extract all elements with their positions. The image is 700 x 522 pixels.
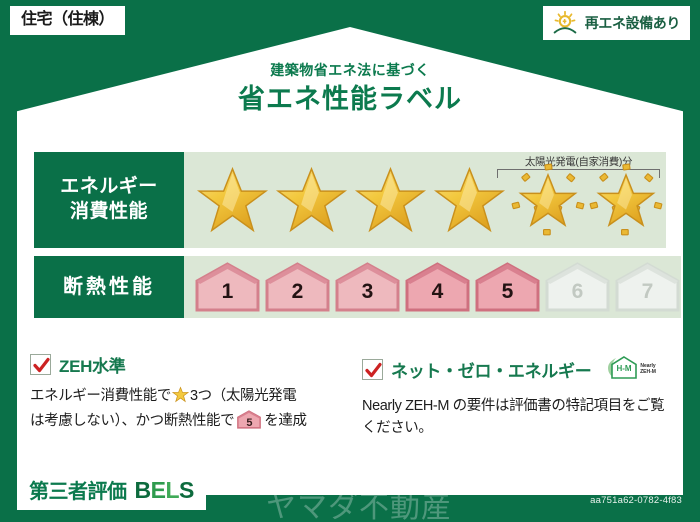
energy-label-line1: エネルギー xyxy=(60,175,158,200)
checkbox-checked-icon xyxy=(30,354,51,375)
evaluation-date-label: 評価日 xyxy=(540,475,584,492)
insulation-level-5-value: 5 xyxy=(474,280,541,304)
company-watermark: ヤマダ不動産 xyxy=(266,482,452,522)
star-rating-group xyxy=(184,163,664,237)
energy-label-line2: 消費性能 xyxy=(70,200,148,225)
bels-letter-s: S xyxy=(179,477,194,503)
insulation-level-4: 4 xyxy=(404,261,471,313)
bels-certification-box: 第三者評価 BELS xyxy=(17,470,206,510)
inline-insulation-badge: 5 xyxy=(236,410,262,429)
insulation-level-1-value: 1 xyxy=(194,280,261,304)
criterion-zeh-description: エネルギー消費性能で3つ（太陽光発電は考慮しない）、かつ断熱性能で5を達成 xyxy=(30,385,338,433)
energy-consumption-row: エネルギー 消費性能 太陽光発電(自家消費)分 xyxy=(34,152,666,248)
criterion-net-zero-energy: ネット・ゼロ・エネルギー H-M Nearly ZEH-M Nearly ZEH… xyxy=(362,352,670,440)
criterion-zeh-text-3: は考慮しない）、かつ断熱性能で xyxy=(30,413,234,429)
insulation-level-1: 1 xyxy=(194,261,261,313)
criterion-zeh-suijun: ZEH水準 エネルギー消費性能で3つ（太陽光発電は考慮しない）、かつ断熱性能で5… xyxy=(30,352,338,440)
sun-energy-icon xyxy=(551,10,579,36)
insulation-level-7-value: 7 xyxy=(614,280,681,304)
insulation-level-2: 2 xyxy=(264,261,331,313)
building-type-tag: 住宅（住棟） xyxy=(10,6,125,35)
star-filled-4 xyxy=(431,163,508,237)
renewable-equipment-badge: 再エネ設備あり xyxy=(543,6,690,40)
insulation-level-3: 3 xyxy=(334,261,401,313)
insulation-level-2-value: 2 xyxy=(264,280,331,304)
star-solar-2 xyxy=(588,163,664,237)
bels-letter-b: B xyxy=(135,477,151,503)
label-footer: 第三者評価 BELS Sunrise ヤマダ不動産 評価日 2025年4月4日 … xyxy=(0,464,700,522)
renewable-badge-label: 再エネ設備あり xyxy=(585,13,680,33)
title-main: 省エネ性能ラベル xyxy=(0,83,700,115)
star-solar-1 xyxy=(510,163,586,237)
nearly-zeh-m-logo-icon: H-M Nearly ZEH-M xyxy=(603,352,661,387)
third-party-evaluation-label: 第三者評価 xyxy=(29,475,127,504)
evaluation-date: 評価日 2025年4月4日 xyxy=(540,472,682,493)
insulation-label: 断熱性能 xyxy=(34,256,184,318)
star-filled-1 xyxy=(194,163,271,237)
criterion-zeh-text-2: 3つ（太陽光発電 xyxy=(190,388,296,404)
evaluation-id: aa751a62-0782-4f83 xyxy=(540,495,682,506)
star-filled-3 xyxy=(352,163,429,237)
svg-text:ZEH-M: ZEH-M xyxy=(640,369,656,375)
criterion-zeh-title: ZEH水準 xyxy=(59,352,126,377)
criterion-nze-title: ネット・ゼロ・エネルギー xyxy=(391,357,591,382)
rating-rows: エネルギー 消費性能 太陽光発電(自家消費)分 xyxy=(34,152,666,318)
insulation-level-4-value: 4 xyxy=(404,280,471,304)
star-filled-2 xyxy=(273,163,350,237)
criteria-section: ZEH水準 エネルギー消費性能で3つ（太陽光発電は考慮しない）、かつ断熱性能で5… xyxy=(30,352,670,440)
bels-letter-l: L xyxy=(165,477,179,503)
checkbox-checked-icon xyxy=(362,359,383,380)
insulation-level-group: 1 2 3 xyxy=(184,261,681,313)
svg-text:H-M: H-M xyxy=(617,364,632,373)
criterion-zeh-text-4: を達成 xyxy=(264,413,306,429)
criterion-nze-description: Nearly ZEH-M の要件は評価書の特記項目をご覧ください。 xyxy=(362,395,670,440)
insulation-level-5: 5 xyxy=(474,261,541,313)
energy-stars-panel: 太陽光発電(自家消費)分 xyxy=(184,152,666,248)
evaluation-date-value: 2025年4月4日 xyxy=(589,475,682,492)
bels-letter-e: E xyxy=(151,477,166,503)
insulation-row: 断熱性能 1 2 xyxy=(34,256,666,318)
inline-star-icon xyxy=(172,391,189,407)
inline-insulation-badge-value: 5 xyxy=(236,415,262,432)
label-title: 建築物省エネ法に基づく 省エネ性能ラベル xyxy=(0,62,700,115)
title-subtitle: 建築物省エネ法に基づく xyxy=(0,62,700,79)
criterion-nze-header: ネット・ゼロ・エネルギー H-M Nearly ZEH-M xyxy=(362,352,670,387)
evaluation-info: 評価日 2025年4月4日 aa751a62-0782-4f83 xyxy=(540,472,682,506)
criterion-zeh-header: ZEH水準 xyxy=(30,352,338,377)
energy-consumption-label: エネルギー 消費性能 xyxy=(34,152,184,248)
insulation-level-7: 7 xyxy=(614,261,681,313)
insulation-levels-panel: 1 2 3 xyxy=(184,256,681,318)
criterion-zeh-text-1: エネルギー消費性能で xyxy=(30,388,171,404)
bels-logo: BELS xyxy=(135,477,194,504)
insulation-level-6-value: 6 xyxy=(544,280,611,304)
insulation-level-3-value: 3 xyxy=(334,280,401,304)
energy-performance-label: 住宅（住棟） 再エネ設備あり 建築物省エネ法に基づく 省エネ性能ラベル xyxy=(0,0,700,522)
insulation-level-6: 6 xyxy=(544,261,611,313)
